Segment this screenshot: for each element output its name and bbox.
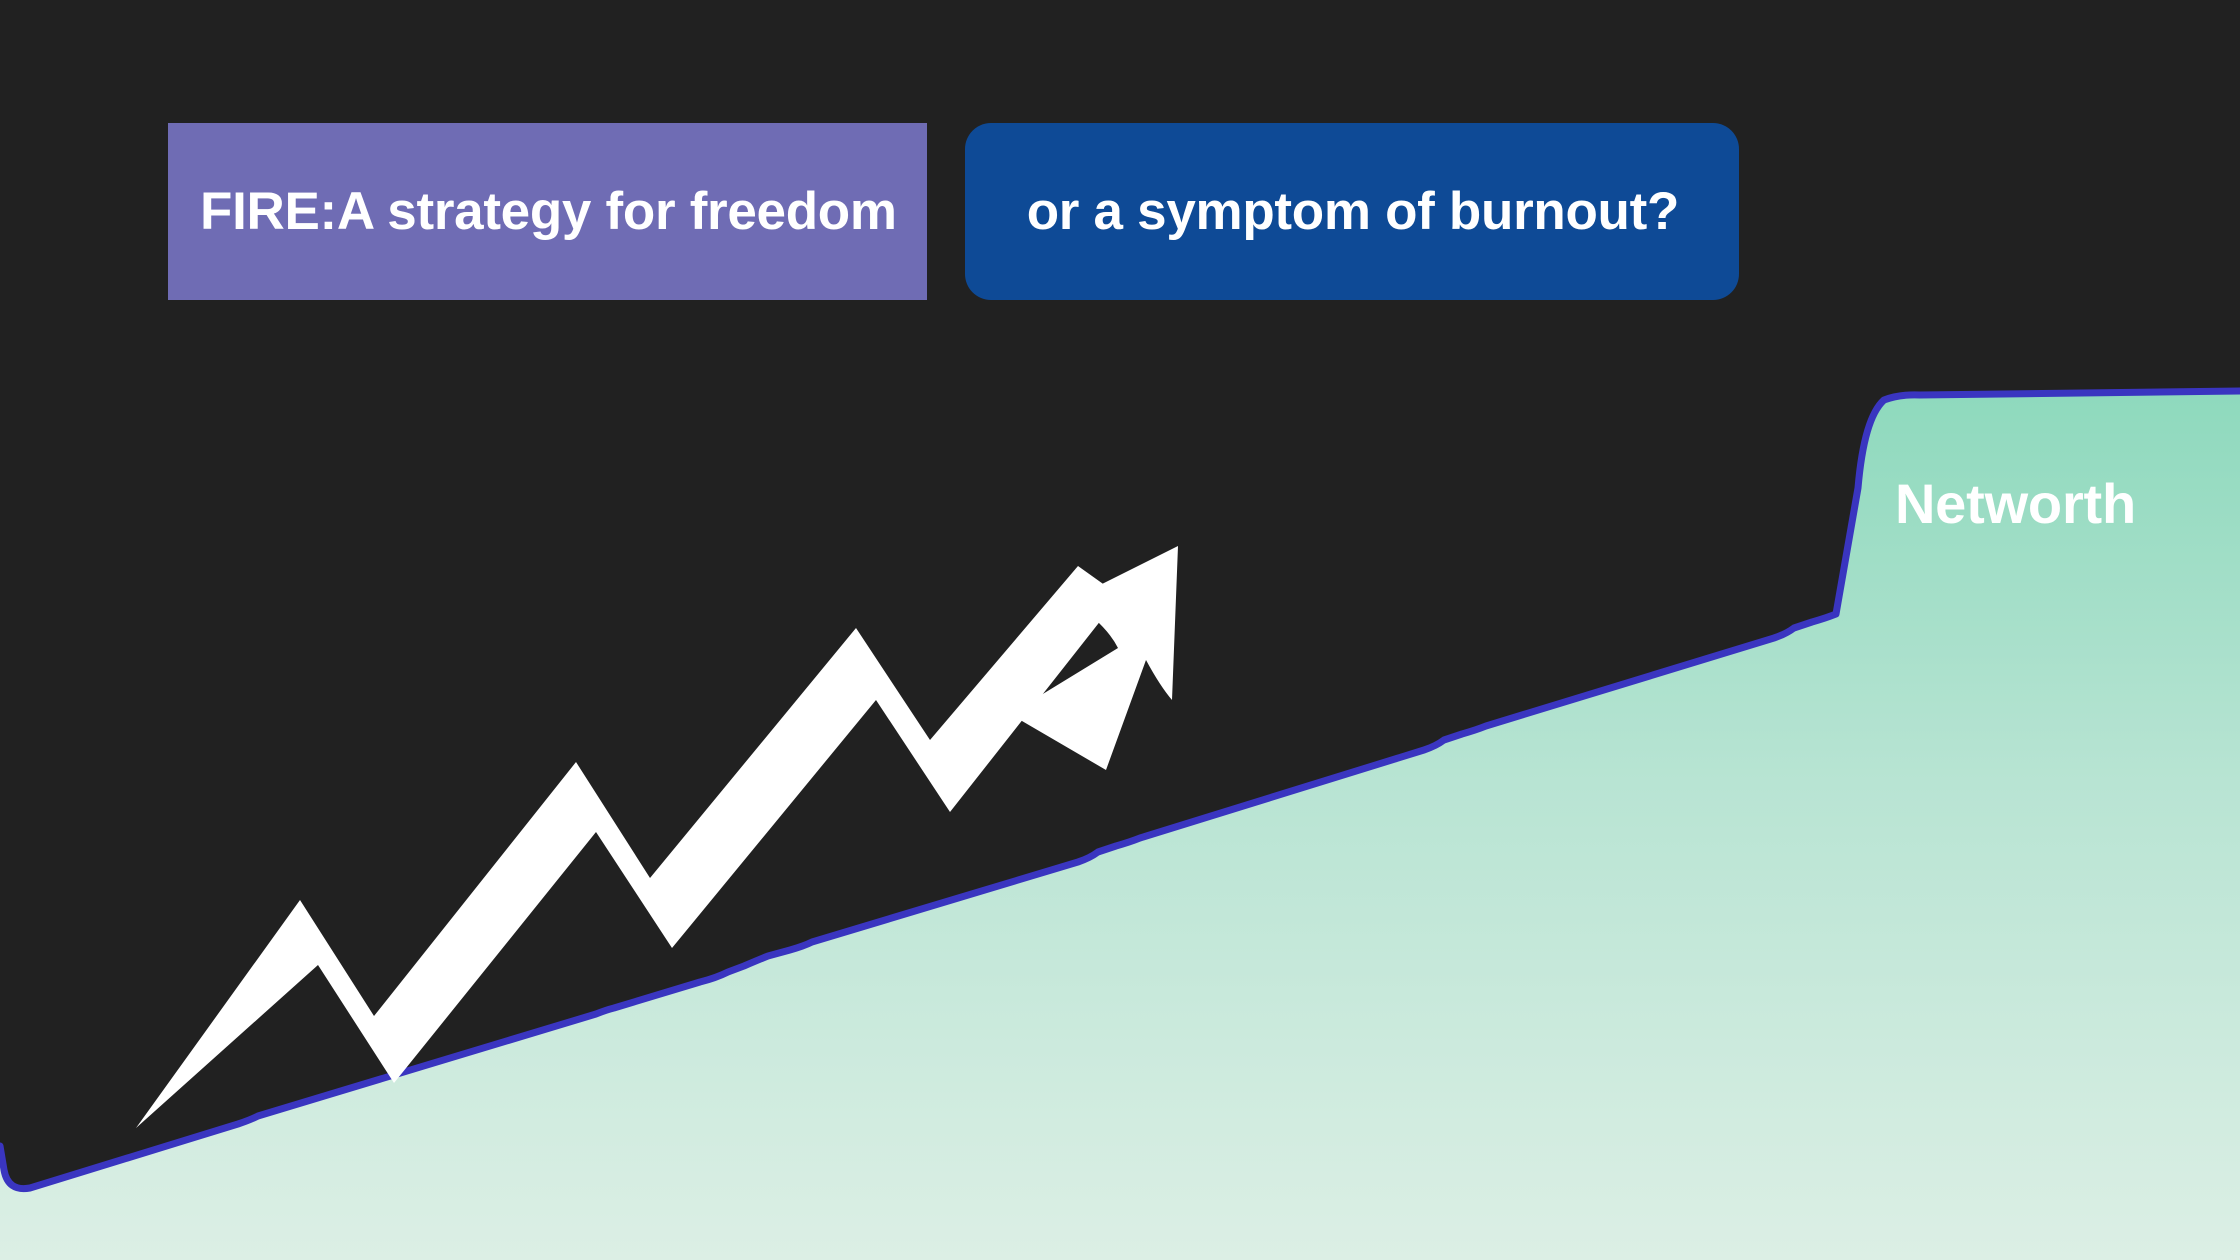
badge-fire-strategy[interactable]: FIRE:A strategy for freedom [168, 123, 927, 300]
badge-burnout-question[interactable]: or a symptom of burnout? [965, 123, 1739, 300]
badge-secondary-label: or a symptom of burnout? [1027, 185, 1679, 238]
networth-series-label: Networth [1895, 476, 2136, 532]
headline-badges: FIRE:A strategy for freedom or a symptom… [168, 123, 1739, 300]
badge-primary-label: FIRE:A strategy for freedom [200, 185, 897, 238]
infographic-canvas: FIRE:A strategy for freedom or a symptom… [0, 0, 2240, 1260]
